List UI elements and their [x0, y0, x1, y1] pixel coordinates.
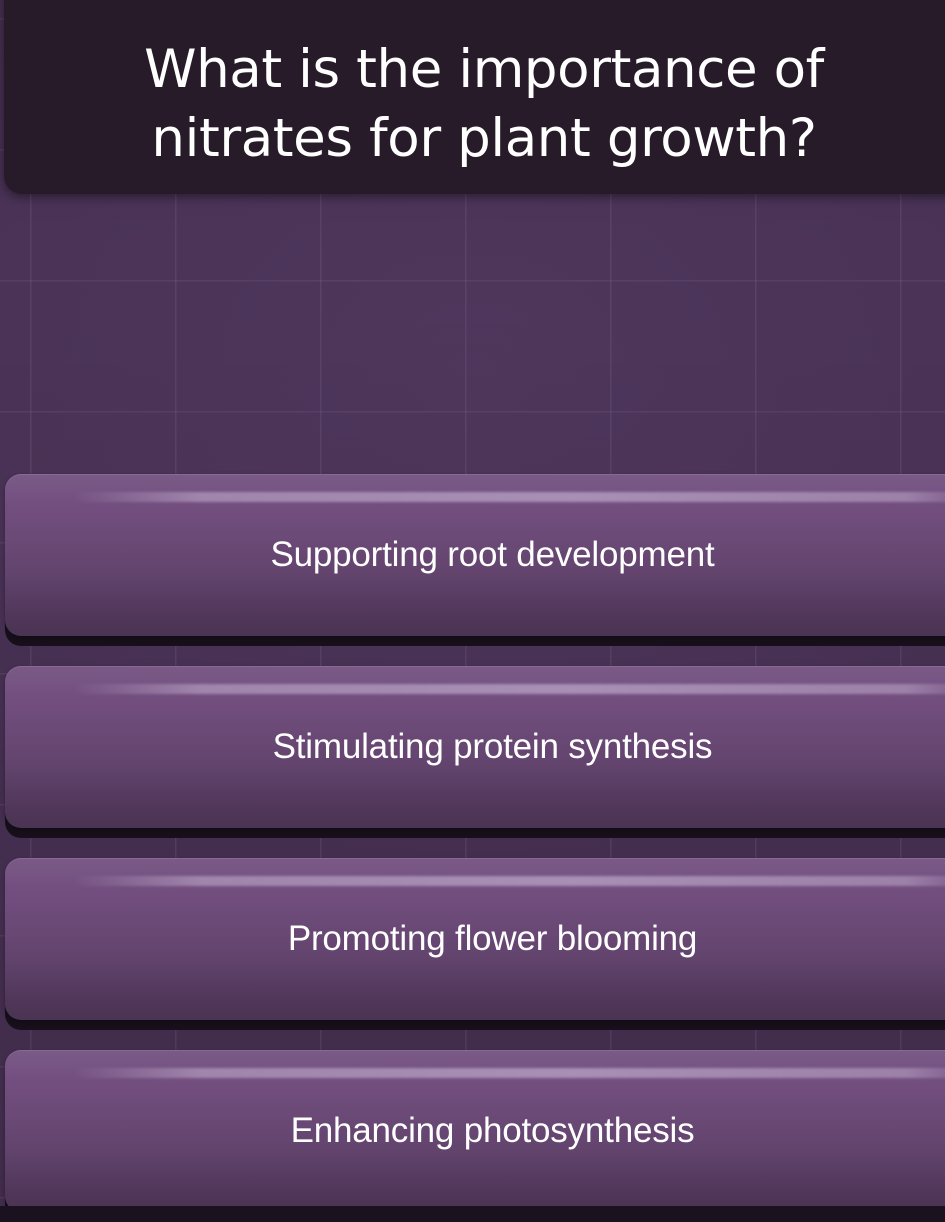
answer-option-2[interactable]: Stimulating protein synthesis [5, 666, 945, 828]
answer-option-3[interactable]: Promoting flower blooming [5, 858, 945, 1020]
answer-option-3-label: Promoting flower blooming [288, 918, 697, 960]
quiz-screen: What is the importance of nitrates for p… [0, 0, 945, 1222]
answer-option-4[interactable]: Enhancing photosynthesis [5, 1050, 945, 1212]
answer-option-1[interactable]: Supporting root development [5, 474, 945, 636]
answer-slot: Stimulating protein synthesis [0, 666, 945, 858]
answer-slot: Promoting flower blooming [0, 858, 945, 1050]
answer-slot: Enhancing photosynthesis [0, 1050, 945, 1222]
question-text: What is the importance of nitrates for p… [84, 36, 884, 174]
answer-slot: Supporting root development [0, 474, 945, 666]
answer-option-2-label: Stimulating protein synthesis [273, 726, 713, 768]
question-card: What is the importance of nitrates for p… [4, 0, 945, 194]
answer-option-4-label: Enhancing photosynthesis [291, 1110, 695, 1152]
bottom-edge [0, 1206, 945, 1222]
answer-options-list: Supporting root development Stimulating … [0, 474, 945, 1222]
answer-option-1-label: Supporting root development [270, 534, 714, 576]
